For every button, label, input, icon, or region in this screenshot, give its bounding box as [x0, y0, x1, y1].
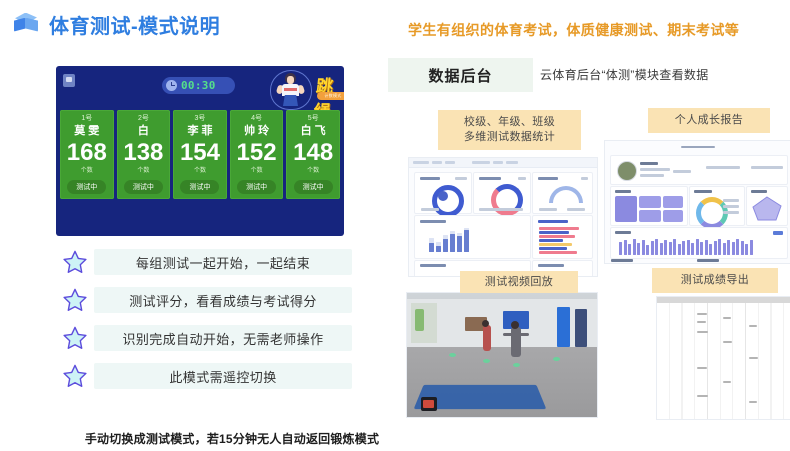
bullet-text: 测试评分，看看成绩与考试得分 [94, 287, 352, 313]
lane-student-name: 李菲 [173, 124, 227, 139]
lane-number: 5号 [286, 113, 340, 124]
scoreboard-topbar: 00:30 跳绳 计数模式 [56, 66, 344, 110]
scoreboard-panel: 00:30 跳绳 计数模式 1号 莫雯 168 个数 测试中 2号 白 138 [56, 66, 344, 236]
lane-status-badge: 测试中 [294, 180, 333, 194]
lane-card: 2号 白 138 个数 测试中 [117, 110, 171, 199]
lane-score: 148 [286, 139, 340, 166]
caption-growth-report: 个人成长报告 [648, 108, 770, 133]
lane-card: 5号 白飞 148 个数 测试中 [286, 110, 340, 199]
slide-root: 体育测试-模式说明 00:30 跳绳 计数模式 1号 莫雯 168 个数 [0, 0, 790, 451]
bullet-text: 此模式需遥控切换 [94, 363, 352, 389]
backend-label: 数据后台 [428, 65, 492, 86]
lane-student-name: 帅玲 [230, 124, 284, 139]
footer-note: 手动切换成测试模式，若15分钟无人自动返回锻炼模式 [62, 430, 402, 447]
lane-student-name: 白飞 [286, 124, 340, 139]
lane-status-badge: 测试中 [124, 180, 163, 194]
jump-rope-athlete-icon [269, 68, 311, 110]
lane-status-badge: 测试中 [67, 180, 106, 194]
cube-icon [14, 13, 38, 37]
page-header: 体育测试-模式说明 [14, 10, 220, 39]
lane-unit: 个数 [173, 166, 227, 176]
lane-student-name: 白 [117, 124, 171, 139]
lane-number: 2号 [117, 113, 171, 124]
lane-score: 138 [117, 139, 171, 166]
lane-card: 4号 帅玲 152 个数 测试中 [230, 110, 284, 199]
caption-score-export: 测试成绩导出 [652, 268, 778, 293]
feature-bullet-list: 每组测试一起开始，一起结束 测试评分，看看成绩与考试得分 识别完成自动开始，无需… [62, 247, 352, 399]
backend-description: 云体育后台“体测”模块查看数据 [540, 66, 709, 83]
app-logo-icon [63, 74, 75, 87]
statistics-dashboard-thumbnail[interactable] [408, 157, 598, 277]
growth-report-thumbnail[interactable] [604, 140, 790, 264]
timer-value: 00:30 [181, 79, 216, 92]
sport-mode-badge: 计数模式 [317, 92, 344, 100]
list-item: 测试评分，看看成绩与考试得分 [62, 285, 352, 315]
lane-unit: 个数 [230, 166, 284, 176]
star-icon [62, 363, 88, 389]
caption-line-2: 多维测试数据统计 [464, 130, 555, 145]
lane-number: 4号 [230, 113, 284, 124]
bullet-text: 每组测试一起开始，一起结束 [94, 249, 352, 275]
lane-score: 154 [173, 139, 227, 166]
lane-status-badge: 测试中 [237, 180, 276, 194]
lane-list: 1号 莫雯 168 个数 测试中 2号 白 138 个数 测试中 3号 李菲 1… [60, 110, 340, 199]
page-title: 体育测试-模式说明 [49, 10, 220, 39]
lane-score: 168 [60, 139, 114, 166]
clock-icon [166, 80, 177, 91]
lane-unit: 个数 [286, 166, 340, 176]
lane-unit: 个数 [117, 166, 171, 176]
lane-card: 3号 李菲 154 个数 测试中 [173, 110, 227, 199]
lane-unit: 个数 [60, 166, 114, 176]
caption-video-replay: 测试视频回放 [460, 271, 578, 293]
list-item: 每组测试一起开始，一起结束 [62, 247, 352, 277]
star-icon [62, 325, 88, 351]
caption-statistics: 校级、年级、班级 多维测试数据统计 [438, 110, 581, 150]
star-icon [62, 249, 88, 275]
countdown-timer: 00:30 [162, 77, 235, 94]
backend-label-panel: 数据后台 [388, 58, 533, 92]
caption-line-1: 校级、年级、班级 [464, 115, 555, 130]
video-replay-photo[interactable] [406, 292, 598, 418]
dashboard-toolbar [409, 158, 597, 168]
lane-number: 3号 [173, 113, 227, 124]
right-section-title: 学生有组织的体育考试，体质健康测试、期末考试等 [408, 20, 739, 40]
lane-student-name: 莫雯 [60, 124, 114, 139]
star-icon [62, 287, 88, 313]
lane-card: 1号 莫雯 168 个数 测试中 [60, 110, 114, 199]
list-item: 识别完成自动开始，无需老师操作 [62, 323, 352, 353]
lane-number: 1号 [60, 113, 114, 124]
lane-score: 152 [230, 139, 284, 166]
list-item: 此模式需遥控切换 [62, 361, 352, 391]
score-export-table[interactable] [656, 296, 790, 420]
lane-status-badge: 测试中 [180, 180, 219, 194]
bullet-text: 识别完成自动开始，无需老师操作 [94, 325, 352, 351]
